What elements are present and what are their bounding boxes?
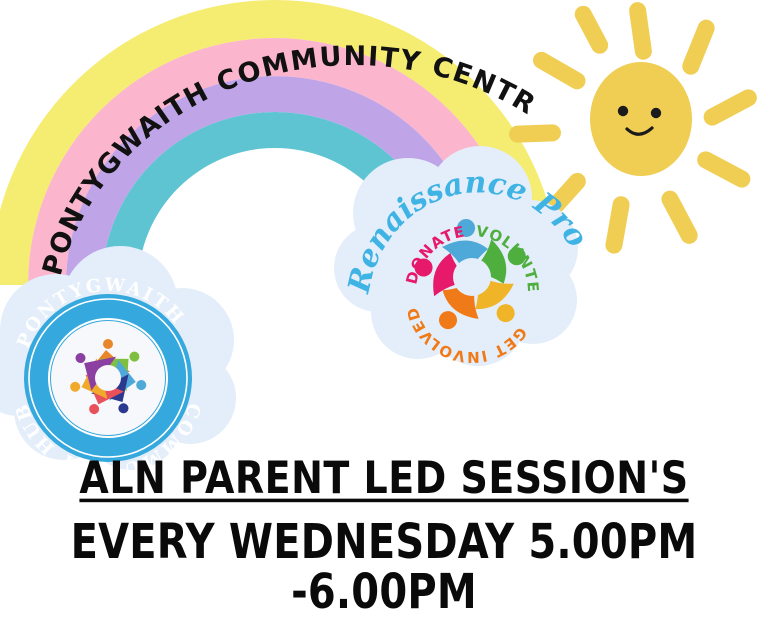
headline-line-2: EVERY WEDNESDAY 5.00PM -6.00PM xyxy=(0,517,768,618)
headline-block: ALN PARENT LED SESSION'S EVERY WEDNESDAY… xyxy=(0,455,768,601)
headline-line-1: ALN PARENT LED SESSION'S xyxy=(79,455,688,502)
poster-canvas: PONTYGWAITH COMMUNITY CENTRE xyxy=(0,0,768,602)
